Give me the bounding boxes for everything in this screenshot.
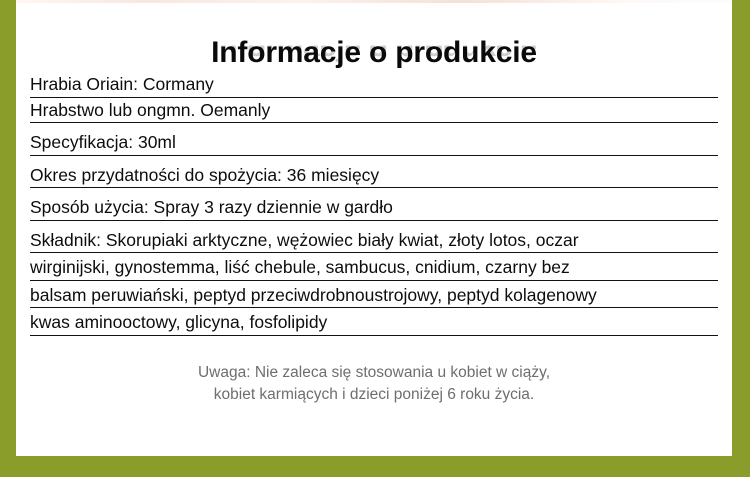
warning-note: Uwaga: Nie zaleca się stosowania u kobie… bbox=[16, 362, 732, 407]
ingredients-line: wirginijski, gynostemma, liść chebule, s… bbox=[30, 259, 718, 281]
spec-row-origin-brand: Hrabia Oriain: Cormany bbox=[30, 76, 718, 98]
accent-bar-right bbox=[732, 0, 750, 458]
spec-row-specification: Specyfikacja: 30ml bbox=[30, 134, 718, 156]
spec-row-origin-county: Hrabstwo lub ongmn. Oemanly bbox=[30, 102, 718, 124]
warning-note-line: Uwaga: Nie zaleca się stosowania u kobie… bbox=[16, 362, 732, 384]
accent-bar-left bbox=[0, 0, 16, 458]
spec-row-usage: Sposób użycia: Spray 3 razy dziennie w g… bbox=[30, 199, 718, 221]
page-title: Informacje o produkcie bbox=[16, 37, 732, 69]
ingredients-line: balsam peruwiański, peptyd przeciwdrobno… bbox=[30, 287, 718, 309]
ingredients-line: kwas aminooctowy, glicyna, fosfolipidy bbox=[30, 314, 718, 336]
warning-note-line: kobiet karmiących i dzieci poniżej 6 rok… bbox=[16, 384, 732, 406]
ingredients-lines: Składnik: Skorupiaki arktyczne, wężowiec… bbox=[30, 232, 718, 336]
spec-row-shelf-life: Okres przydatności do spożycia: 36 miesi… bbox=[30, 167, 718, 189]
ingredients-line: Składnik: Skorupiaki arktyczne, wężowiec… bbox=[30, 232, 718, 254]
spec-list: Hrabia Oriain: Cormany Hrabstwo lub ongm… bbox=[16, 76, 732, 336]
spec-row-ingredients: Składnik: Skorupiaki arktyczne, wężowiec… bbox=[30, 232, 718, 336]
card-content: Informacje o produkcie Informacje o prod… bbox=[16, 0, 732, 456]
accent-bar-bottom bbox=[0, 456, 750, 477]
product-information-card: Informacje o produkcie Informacje o prod… bbox=[0, 0, 750, 477]
title-area: Informacje o produkcie Informacje o prod… bbox=[16, 0, 732, 76]
